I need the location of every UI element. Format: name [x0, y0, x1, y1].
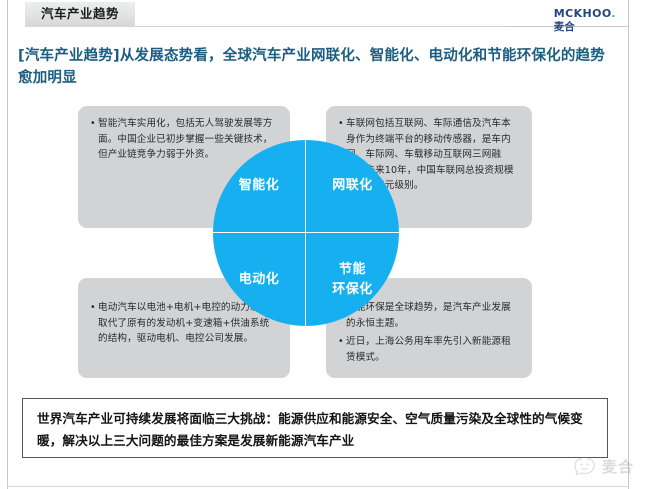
conclusion-box: 世界汽车产业可持续发展将面临三大挑战：能源供应和能源安全、空气质量污染及全球性的…: [22, 398, 608, 458]
quadrant-label-line1: 节能: [332, 260, 373, 280]
chat-face-icon: [572, 455, 598, 477]
slide-canvas: 汽车产业趋势 MCKHOO. 麦合 [汽车产业趋势]从发展态势看，全球汽车产业网…: [0, 0, 646, 489]
bullet-marker-icon: •: [90, 116, 98, 163]
logo-sub-text: 麦合: [554, 22, 616, 33]
bullet-item: • 近日，上海公务用车率先引入新能源租赁模式。: [338, 334, 520, 365]
header-tab-label: 汽车产业趋势: [41, 8, 119, 21]
logo-main-text: MCKHOO: [554, 7, 612, 20]
quadrant-label-line2: 环保化: [332, 280, 373, 300]
center-circle-wrapper: 智能化 网联化 电动化 节能 环保化: [213, 140, 399, 326]
quadrant-eco[interactable]: 节能 环保化: [306, 233, 399, 326]
quadrant-label: 电动化: [239, 270, 280, 290]
quadrant-label: 网联化: [332, 176, 373, 196]
slide-header: 汽车产业趋势 MCKHOO. 麦合: [8, 0, 628, 34]
header-tab[interactable]: 汽车产业趋势: [25, 2, 135, 27]
four-quadrant-diagram: • 智能汽车实用化，包括无人驾驶发展等方面。中国企业已初步掌握一些关键技术，但产…: [0, 96, 646, 384]
bullet-marker-icon: •: [90, 300, 98, 347]
bullet-marker-icon: •: [338, 334, 346, 365]
page-border-bottom: [7, 486, 629, 487]
quadrant-label: 智能化: [239, 176, 280, 196]
bullet-text: 近日，上海公务用车率先引入新能源租赁模式。: [346, 334, 520, 365]
quadrant-electric[interactable]: 电动化: [213, 233, 306, 326]
quadrant-intelligent[interactable]: 智能化: [213, 140, 306, 233]
quadrant-connected[interactable]: 网联化: [306, 140, 399, 233]
logo-dot: .: [611, 7, 616, 20]
quadrant-circle: 智能化 网联化 电动化 节能 环保化: [213, 140, 399, 326]
brand-logo: MCKHOO. 麦合: [554, 4, 616, 33]
header-divider: [135, 26, 507, 27]
watermark-text: 麦合: [602, 456, 634, 477]
logo-wordmark: MCKHOO.: [554, 4, 616, 21]
watermark: 麦合: [572, 455, 634, 477]
slide-title: [汽车产业趋势]从发展态势看，全球汽车产业网联化、智能化、电动化和节能环保化的趋…: [18, 45, 618, 90]
